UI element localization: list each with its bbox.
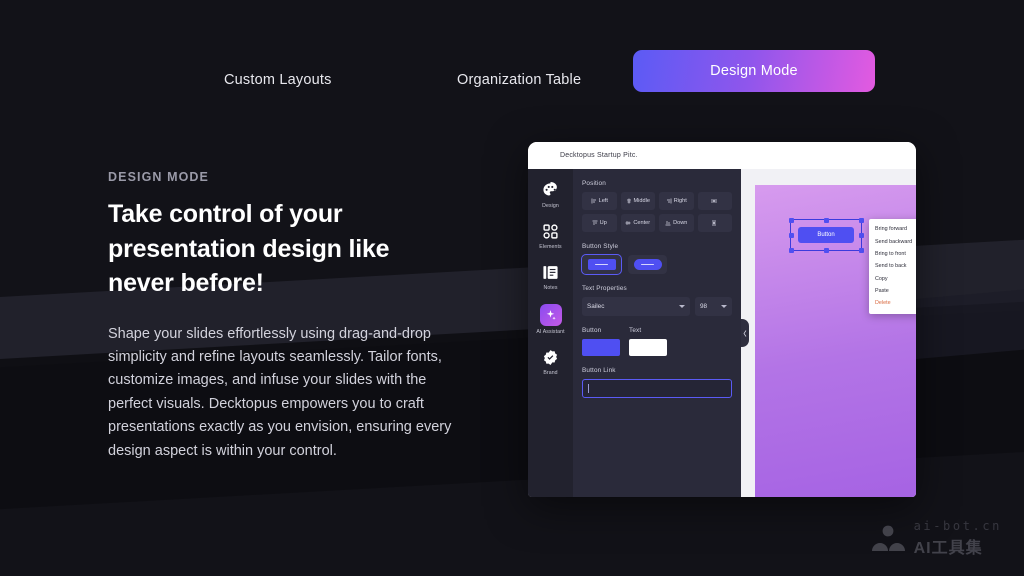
button-style-options — [582, 255, 732, 274]
button-link-input[interactable] — [582, 379, 732, 398]
color-controls: Button Text — [582, 327, 732, 356]
context-menu-item-copy[interactable]: Copy — [869, 273, 916, 285]
watermark-text: ai-bot.cn AI工具集 — [914, 519, 1002, 558]
align-right-label: Right — [674, 198, 687, 204]
context-menu-item-delete[interactable]: Delete — [869, 297, 916, 309]
page-title: Take control of your presentation design… — [108, 197, 453, 301]
notes-icon — [541, 263, 560, 282]
align-left-icon — [591, 198, 597, 204]
sidebar-item-notes-label: Notes — [543, 285, 557, 291]
align-center-horizontal-icon — [626, 198, 632, 204]
distribute-vertical-button[interactable] — [698, 214, 733, 232]
feature-copy: DESIGN MODE Take control of your present… — [108, 170, 453, 463]
sidebar-item-brand-label: Brand — [543, 370, 557, 376]
app-sidebar: Design Elements — [528, 169, 573, 497]
button-color-control: Button — [582, 327, 620, 356]
text-color-control: Text — [629, 327, 667, 356]
window-titlebar: Decktopus Startup Pitc. — [528, 142, 916, 169]
context-menu-item-bring-forward[interactable]: Bring forward — [869, 223, 916, 235]
align-up-button[interactable]: Up — [582, 214, 617, 232]
resize-handle-left[interactable] — [789, 233, 794, 238]
window-body: Design Elements — [528, 169, 916, 497]
context-menu: Bring forward Send backward Bring to fro… — [869, 219, 916, 314]
align-right-icon — [666, 198, 672, 204]
align-left-label: Left — [599, 198, 608, 204]
alignment-button-grid: Left Middle Right — [582, 192, 732, 232]
pill-chip-icon — [634, 259, 662, 270]
sidebar-item-brand[interactable]: Brand — [530, 348, 571, 376]
chevron-down-icon — [721, 305, 727, 308]
rectangle-chip-icon — [588, 259, 616, 270]
slide-canvas-area[interactable]: Button Bring forward Send — [741, 169, 916, 497]
font-family-select[interactable]: Sailec — [582, 297, 690, 316]
tab-organization-table-label: Organization Table — [457, 72, 581, 88]
button-style-pill[interactable] — [628, 255, 667, 274]
tab-design-mode[interactable]: Design Mode — [633, 50, 875, 92]
sidebar-item-ai-assistant-label: AI Assistant — [536, 329, 564, 335]
button-style-section-label: Button Style — [582, 243, 732, 250]
tab-organization-table[interactable]: Organization Table — [453, 62, 585, 98]
chevron-left-icon — [743, 330, 747, 337]
watermark-domain: ai-bot.cn — [914, 519, 1002, 533]
context-menu-item-send-to-back[interactable]: Send to back — [869, 260, 916, 272]
sidebar-item-elements[interactable]: Elements — [530, 222, 571, 250]
grid-icon — [541, 222, 560, 241]
check-badge-icon — [541, 348, 560, 367]
resize-handle-top-left[interactable] — [789, 218, 794, 223]
app-window: Decktopus Startup Pitc. Design — [528, 142, 916, 497]
properties-panel: Position Left Middle — [573, 169, 741, 497]
distribute-vertical-icon — [711, 220, 717, 226]
watermark-brand: AI工具集 — [914, 534, 1002, 558]
resize-handle-bottom-right[interactable] — [859, 248, 864, 253]
position-section-label: Position — [582, 180, 732, 187]
button-style-rectangle[interactable] — [582, 255, 621, 274]
button-color-swatch[interactable] — [582, 339, 620, 356]
align-right-button[interactable]: Right — [659, 192, 694, 210]
text-properties-controls: Sailec 98 — [582, 297, 732, 316]
canvas-button-element[interactable]: Button — [798, 227, 854, 243]
text-color-label: Text — [629, 327, 667, 334]
button-link-label: Button Link — [582, 367, 732, 374]
button-color-label: Button — [582, 327, 620, 334]
sidebar-item-design[interactable]: Design — [530, 181, 571, 209]
page-root: Custom Layouts Organization Table Design… — [0, 0, 1024, 576]
sidebar-item-design-label: Design — [542, 203, 559, 209]
feature-description: Shape your slides effortlessly using dra… — [108, 323, 453, 464]
align-up-label: Up — [600, 220, 607, 226]
text-cursor-icon — [588, 384, 589, 393]
ai-bot-logo-icon — [871, 525, 905, 553]
align-down-label: Down — [673, 220, 687, 226]
distribute-horizontal-icon — [711, 198, 717, 204]
text-properties-section-label: Text Properties — [582, 285, 732, 292]
align-top-icon — [592, 220, 598, 226]
resize-handle-bottom-left[interactable] — [789, 248, 794, 253]
resize-handle-right[interactable] — [859, 233, 864, 238]
tab-custom-layouts[interactable]: Custom Layouts — [220, 62, 336, 98]
tab-custom-layouts-label: Custom Layouts — [224, 72, 332, 88]
align-bottom-icon — [665, 220, 671, 226]
resize-handle-top-right[interactable] — [859, 218, 864, 223]
palette-icon — [541, 181, 560, 200]
watermark: ai-bot.cn AI工具集 — [871, 519, 1002, 558]
tab-design-mode-label: Design Mode — [710, 63, 798, 79]
align-left-button[interactable]: Left — [582, 192, 617, 210]
resize-handle-bottom[interactable] — [824, 248, 829, 253]
font-size-value: 98 — [700, 303, 707, 310]
context-menu-item-send-backward[interactable]: Send backward — [869, 235, 916, 247]
canvas-button-label: Button — [817, 232, 834, 238]
sidebar-item-notes[interactable]: Notes — [530, 263, 571, 291]
align-middle-button[interactable]: Middle — [621, 192, 656, 210]
context-menu-item-bring-to-front[interactable]: Bring to front — [869, 248, 916, 260]
text-color-swatch[interactable] — [629, 339, 667, 356]
chevron-down-icon — [679, 305, 685, 308]
distribute-horizontal-button[interactable] — [698, 192, 733, 210]
resize-handle-top[interactable] — [824, 218, 829, 223]
align-center-vertical-icon — [625, 220, 631, 226]
sparkle-icon — [540, 304, 562, 326]
eyebrow-label: DESIGN MODE — [108, 170, 453, 184]
context-menu-item-paste[interactable]: Paste — [869, 285, 916, 297]
font-size-select[interactable]: 98 — [695, 297, 732, 316]
align-center-label: Center — [633, 220, 650, 226]
sidebar-item-ai-assistant[interactable]: AI Assistant — [530, 304, 571, 335]
panel-collapse-handle[interactable] — [741, 319, 749, 347]
slide-surface[interactable]: Button Bring forward Send — [755, 185, 916, 497]
document-title: Decktopus Startup Pitc. — [560, 152, 638, 159]
align-middle-label: Middle — [634, 198, 650, 204]
align-center-button[interactable]: Center — [621, 214, 656, 232]
sidebar-item-elements-label: Elements — [539, 244, 561, 250]
align-down-button[interactable]: Down — [659, 214, 694, 232]
font-family-value: Sailec — [587, 303, 604, 310]
